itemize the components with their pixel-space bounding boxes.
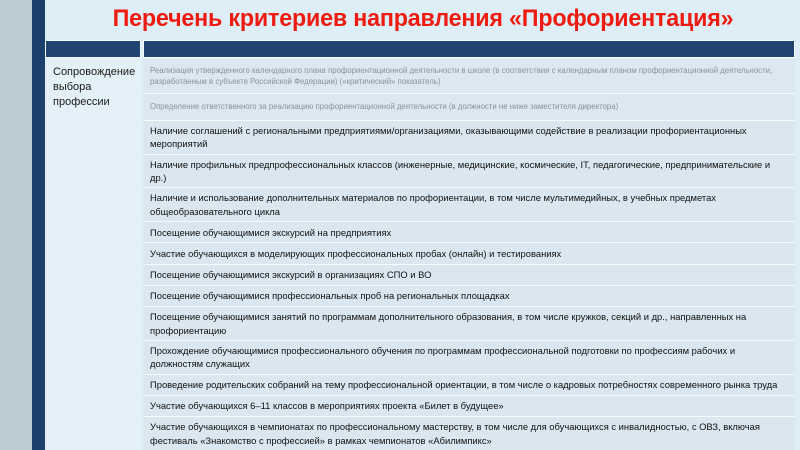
table-header-cell-criteria: [143, 40, 795, 58]
criteria-row[interactable]: Посещение обучающимися профессиональных …: [143, 286, 795, 307]
criteria-row[interactable]: Наличие и использование дополнительных м…: [143, 188, 795, 222]
slide-root: Перечень критериев направления «Профорие…: [0, 0, 800, 450]
criteria-row[interactable]: Посещение обучающимися экскурсий в орган…: [143, 265, 795, 286]
criteria-row[interactable]: Участие обучающихся в моделирующих профе…: [143, 243, 795, 264]
table-body: Сопровождение выбора профессии Реализаци…: [45, 59, 795, 450]
criteria-row[interactable]: Наличие соглашений с региональными предп…: [143, 121, 795, 155]
slide-title-bar: Перечень критериев направления «Профорие…: [45, 0, 800, 38]
criteria-row[interactable]: Участие обучающихся 6–11 классов в мероп…: [143, 396, 795, 417]
criteria-row[interactable]: Проведение родительских собраний на тему…: [143, 375, 795, 396]
table-header-cell-category: [45, 40, 141, 58]
criteria-list: Реализация утвержденного календарного пл…: [143, 59, 795, 450]
criteria-row[interactable]: Реализация утвержденного календарного пл…: [143, 59, 795, 94]
category-label: Сопровождение выбора профессии: [45, 59, 141, 450]
page-title: Перечень критериев направления «Профорие…: [112, 7, 733, 31]
criteria-row[interactable]: Прохождение обучающимися профессионально…: [143, 341, 795, 375]
left-margin-strip: [0, 0, 32, 450]
criteria-row[interactable]: Наличие профильных предпрофессиональных …: [143, 155, 795, 189]
criteria-row[interactable]: Определение ответственного за реализацию…: [143, 94, 795, 121]
table-header-row: [45, 40, 795, 58]
criteria-row[interactable]: Участие обучающихся в чемпионатах по про…: [143, 417, 795, 450]
left-accent-bar: [32, 0, 45, 450]
criteria-row[interactable]: Посещение обучающимися занятий по програ…: [143, 307, 795, 341]
criteria-table: Сопровождение выбора профессии Реализаци…: [45, 40, 795, 450]
criteria-row[interactable]: Посещение обучающимися экскурсий на пред…: [143, 222, 795, 243]
